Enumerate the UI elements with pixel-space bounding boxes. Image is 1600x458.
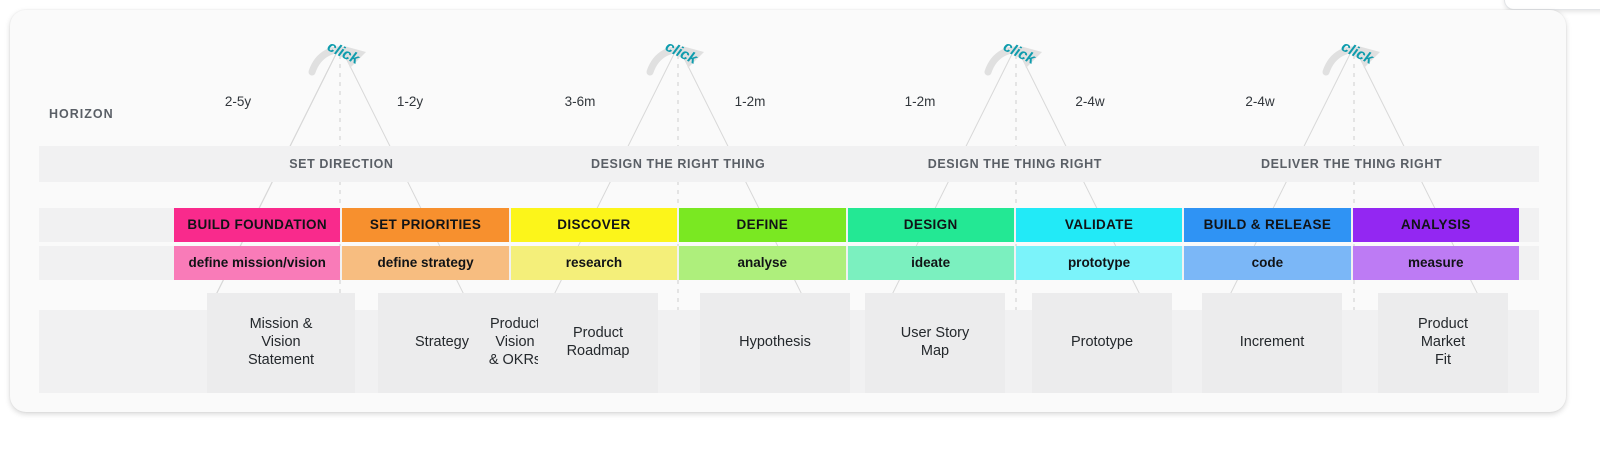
click-annotation[interactable]: click: [642, 36, 720, 88]
deliverable-cell: Prototype: [1032, 293, 1172, 393]
click-annotation[interactable]: click: [1318, 36, 1396, 88]
goal-row: SET DIRECTIONDESIGN THE RIGHT THINGDESIG…: [10, 146, 1566, 182]
cursor-arrow-icon: [980, 36, 1058, 88]
stage-cell[interactable]: DESIGN: [848, 208, 1014, 242]
stage-cell[interactable]: BUILD & RELEASE: [1184, 208, 1350, 242]
card-canvas: HORIZON GOAL STAGE ACTIVITY DELIVERABLE …: [10, 10, 1566, 412]
deliverable-cell: ProductRoadmap: [538, 293, 658, 393]
stage-cell[interactable]: BUILD FOUNDATION: [174, 208, 340, 242]
horizon-value: 2-5y: [188, 94, 288, 109]
stage-cell[interactable]: DISCOVER: [511, 208, 677, 242]
horizon-row: 2-5y1-2y3-6m1-2m1-2m2-4w2-4w: [10, 94, 1566, 132]
deliverable-cell: Increment: [1202, 293, 1342, 393]
activity-cell[interactable]: code: [1184, 246, 1350, 280]
click-label: click: [663, 38, 700, 68]
deliverable-cell: ProductMarketFit: [1378, 293, 1508, 393]
corner-panel[interactable]: [1504, 0, 1600, 10]
activity-cell[interactable]: define strategy: [342, 246, 508, 280]
cursor-arrow-icon: [304, 36, 382, 88]
stage-cell[interactable]: ANALYSIS: [1353, 208, 1519, 242]
horizon-value: 1-2m: [700, 94, 800, 109]
double-diamond-card: HORIZON GOAL STAGE ACTIVITY DELIVERABLE …: [10, 10, 1566, 412]
cursor-arrow-icon: [1318, 36, 1396, 88]
activity-cell[interactable]: analyse: [679, 246, 845, 280]
click-label: click: [325, 38, 362, 68]
click-label: click: [1001, 38, 1038, 68]
goal-cell: SET DIRECTION: [173, 146, 510, 182]
horizon-value: 1-2m: [870, 94, 970, 109]
deliverable-cell: Hypothesis: [700, 293, 850, 393]
horizon-value: 3-6m: [530, 94, 630, 109]
deliverable-cell: Mission &VisionStatement: [207, 293, 355, 393]
cursor-arrow-icon: [642, 36, 720, 88]
stage-cell[interactable]: SET PRIORITIES: [342, 208, 508, 242]
deliverable-row: Mission &VisionStatementStrategyProductV…: [10, 293, 1566, 393]
goal-cell: DELIVER THE THING RIGHT: [1183, 146, 1520, 182]
activity-cell[interactable]: ideate: [848, 246, 1014, 280]
stage-row: BUILD FOUNDATIONSET PRIORITIESDISCOVERDE…: [10, 208, 1566, 242]
stage-cell[interactable]: VALIDATE: [1016, 208, 1182, 242]
horizon-value: 2-4w: [1210, 94, 1310, 109]
goal-cell: DESIGN THE RIGHT THING: [510, 146, 847, 182]
activity-row: define mission/visiondefine strategyrese…: [10, 246, 1566, 280]
deliverable-cell: User StoryMap: [865, 293, 1005, 393]
horizon-value: 1-2y: [360, 94, 460, 109]
stage-cell[interactable]: DEFINE: [679, 208, 845, 242]
activity-cell[interactable]: define mission/vision: [174, 246, 340, 280]
activity-cell[interactable]: prototype: [1016, 246, 1182, 280]
click-label: click: [1339, 38, 1376, 68]
goal-cell: DESIGN THE THING RIGHT: [847, 146, 1184, 182]
horizon-value: 2-4w: [1040, 94, 1140, 109]
click-annotation[interactable]: click: [980, 36, 1058, 88]
click-annotation[interactable]: click: [304, 36, 382, 88]
activity-cell[interactable]: measure: [1353, 246, 1519, 280]
screen: HORIZON GOAL STAGE ACTIVITY DELIVERABLE …: [0, 0, 1600, 458]
activity-cell[interactable]: research: [511, 246, 677, 280]
